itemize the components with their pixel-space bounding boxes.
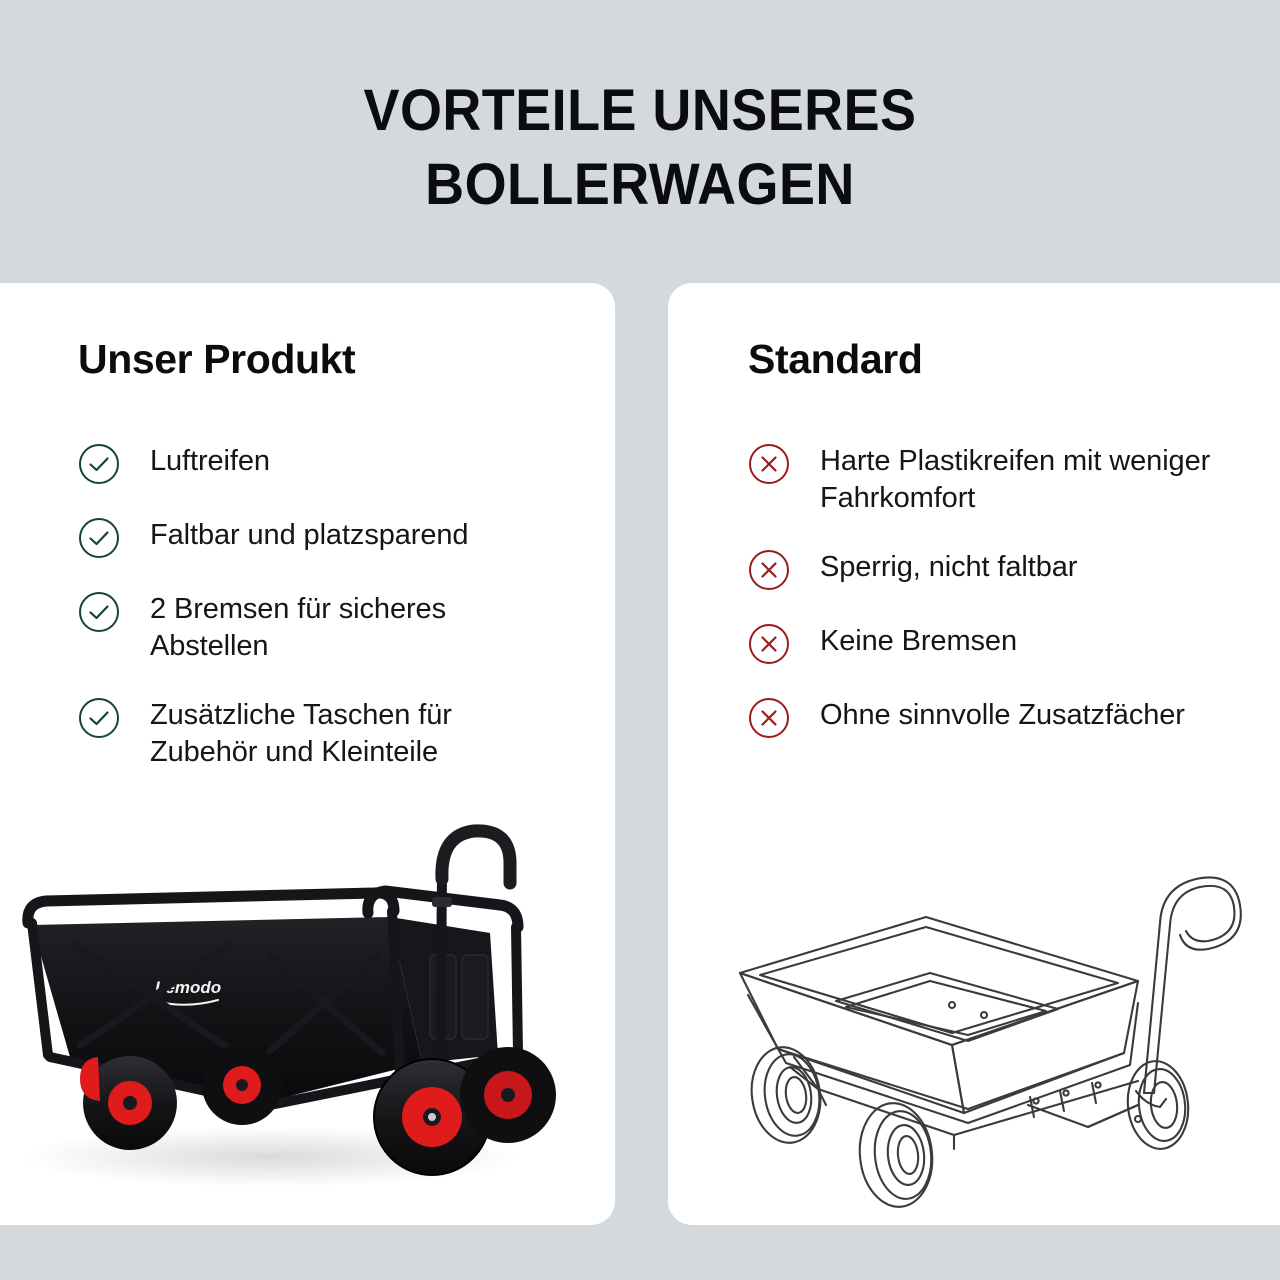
wheel-front-far: [202, 1045, 282, 1125]
check-circle-icon: [78, 591, 120, 633]
list-item: Keine Bremsen: [748, 621, 1218, 665]
list-item: Luftreifen: [78, 441, 548, 485]
list-item: Sperrig, nicht faltbar: [748, 547, 1218, 591]
list-item-label: Luftreifen: [150, 441, 270, 480]
list-item-label: Harte Plastikreifen mit weniger Fahrkomf…: [820, 441, 1218, 517]
wheel-outline-right: [1124, 1058, 1193, 1152]
check-circle-icon: [78, 443, 120, 485]
folding-wagon-photo: Lemodo: [0, 805, 615, 1225]
list-item-label: Sperrig, nicht faltbar: [820, 547, 1077, 586]
list-item: Zusätzliche Taschen für Zubehör und Klei…: [78, 695, 548, 771]
list-item-label: Ohne sinnvolle Zusatzfächer: [820, 695, 1185, 734]
check-circle-icon: [78, 697, 120, 739]
page-title-line-1: VORTEILE UNSERES: [45, 74, 1235, 148]
card-our-product-title: Unser Produkt: [78, 339, 355, 380]
comparison-cards: Unser Produkt Luftreifen: [0, 283, 1280, 1225]
list-item-label: Zusätzliche Taschen für Zubehör und Klei…: [150, 695, 548, 771]
card-standard-title: Standard: [748, 339, 923, 380]
wheel-outline-left: [746, 1043, 827, 1148]
x-circle-icon: [748, 443, 790, 485]
check-circle-icon: [78, 517, 120, 559]
wheel-rear-offside: [460, 1047, 556, 1143]
list-item: Faltbar und platzsparend: [78, 515, 548, 559]
page-title: VORTEILE UNSERES BOLLERWAGEN: [45, 74, 1235, 222]
card-standard: Standard Harte Plastikreifen mit weniger…: [668, 283, 1280, 1225]
our-product-feature-list: Luftreifen Faltbar und platzsparend: [78, 441, 548, 771]
page-title-line-2: BOLLERWAGEN: [45, 148, 1235, 222]
x-circle-icon: [748, 623, 790, 665]
list-item-label: 2 Bremsen für sicheres Abstellen: [150, 589, 548, 665]
list-item-label: Faltbar und platzsparend: [150, 515, 468, 554]
standard-feature-list: Harte Plastikreifen mit weniger Fahrkomf…: [748, 441, 1218, 739]
list-item: Harte Plastikreifen mit weniger Fahrkomf…: [748, 441, 1218, 517]
standard-cart-line-drawing: [668, 805, 1280, 1225]
list-item-label: Keine Bremsen: [820, 621, 1017, 660]
list-item: 2 Bremsen für sicheres Abstellen: [78, 589, 548, 665]
x-circle-icon: [748, 549, 790, 591]
x-circle-icon: [748, 697, 790, 739]
list-item: Ohne sinnvolle Zusatzfächer: [748, 695, 1218, 739]
card-our-product: Unser Produkt Luftreifen: [0, 283, 615, 1225]
